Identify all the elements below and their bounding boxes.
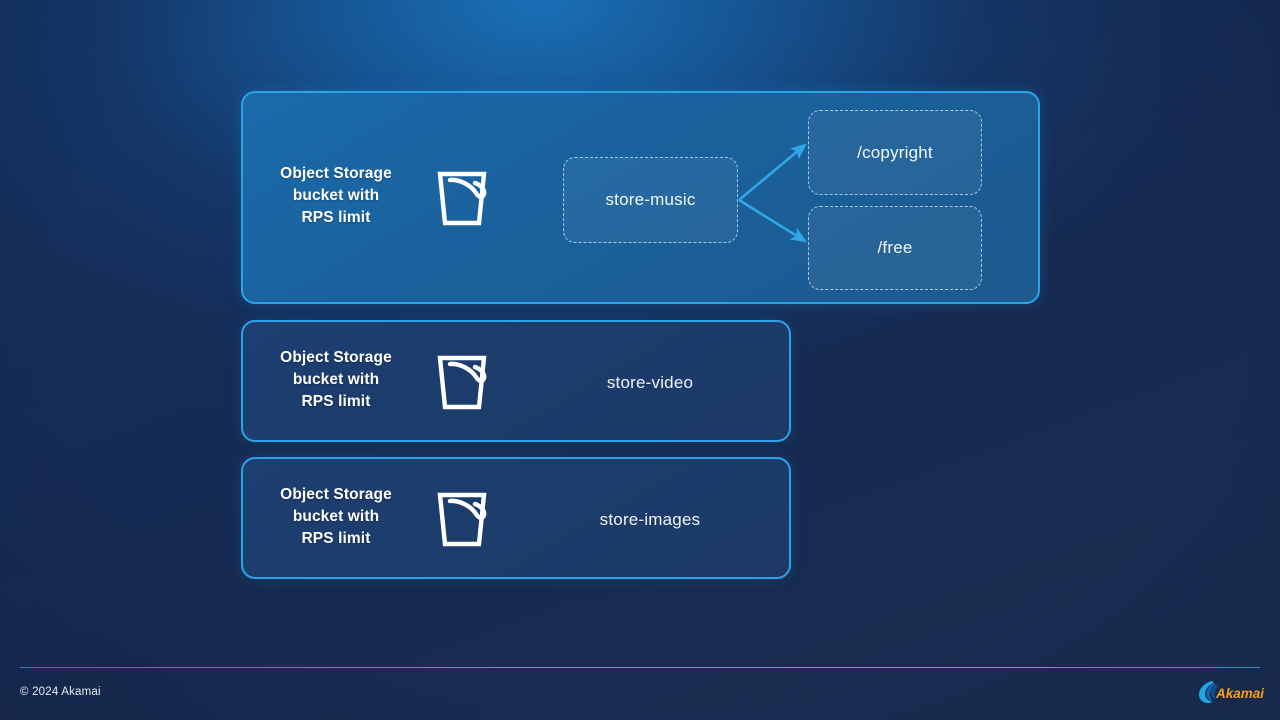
card-object-storage-bucket-store-video[interactable]: Object Storage bucket with RPS limit sto… bbox=[241, 320, 791, 442]
bucket-icon bbox=[429, 484, 495, 550]
footer-divider bbox=[20, 667, 1260, 668]
bucket-group-video: Object Storage bucket with RPS limit bbox=[261, 347, 495, 413]
card-object-storage-bucket-store-images[interactable]: Object Storage bucket with RPS limit sto… bbox=[241, 457, 791, 579]
bucket-group-images: Object Storage bucket with RPS limit bbox=[261, 484, 495, 550]
card-object-storage-bucket-store-music[interactable]: Object Storage bucket with RPS limit sto… bbox=[241, 91, 1040, 304]
akamai-wordmark: Akamai bbox=[1215, 686, 1264, 701]
bucket-label-line-1: Object Storage bbox=[261, 347, 411, 369]
bucket-label-images: Object Storage bucket with RPS limit bbox=[261, 484, 411, 550]
connector-arrows bbox=[243, 93, 1042, 306]
bucket-name-store-video: store-video bbox=[607, 373, 693, 393]
footer-copyright: © 2024 Akamai bbox=[20, 686, 101, 698]
bucket-name-store-images: store-images bbox=[600, 510, 701, 530]
bucket-label-line-1: Object Storage bbox=[261, 484, 411, 506]
bucket-label-line-3: RPS limit bbox=[261, 391, 411, 413]
akamai-logo: Akamai bbox=[1197, 679, 1265, 705]
arrow-to-copyright bbox=[739, 145, 805, 200]
arrow-to-free bbox=[739, 200, 805, 241]
bucket-icon bbox=[429, 347, 495, 413]
slide-stage: Object Storage bucket with RPS limit sto… bbox=[0, 0, 1280, 720]
bucket-label-line-2: bucket with bbox=[261, 369, 411, 391]
bucket-label-line-2: bucket with bbox=[261, 506, 411, 528]
bucket-label-video: Object Storage bucket with RPS limit bbox=[261, 347, 411, 413]
bucket-label-line-3: RPS limit bbox=[261, 528, 411, 550]
